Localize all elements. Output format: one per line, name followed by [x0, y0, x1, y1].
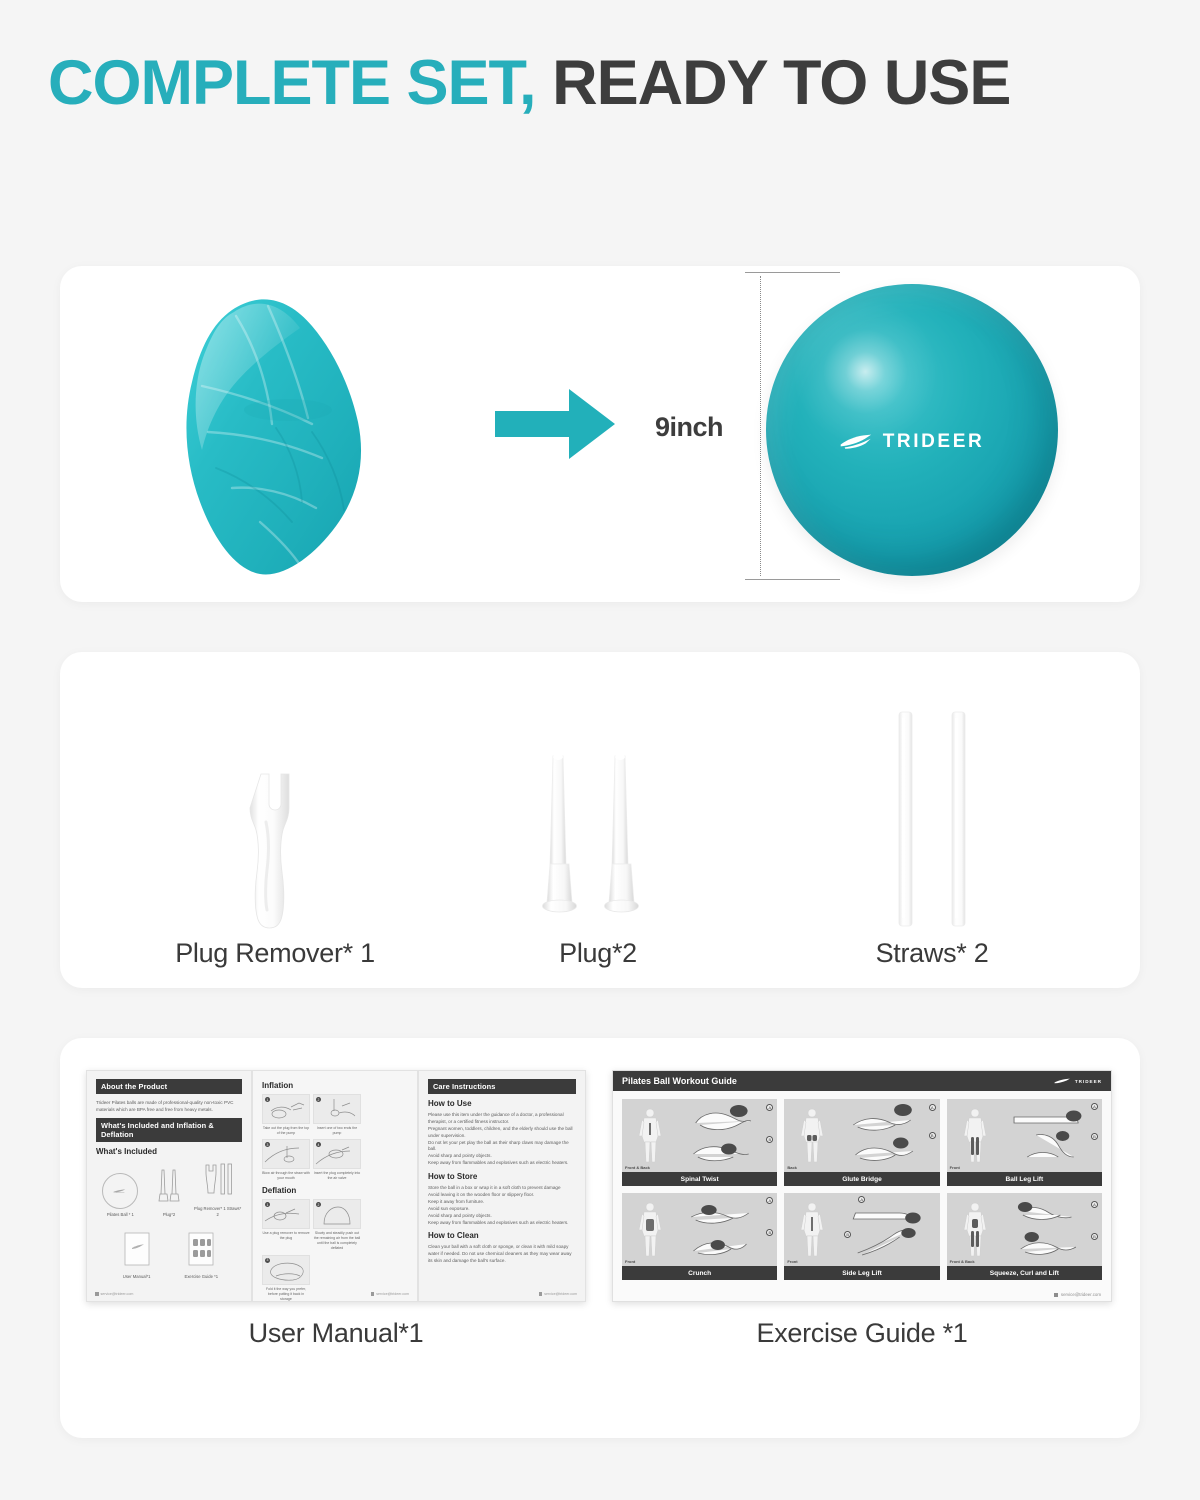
part-straws: Straws* 2 — [772, 690, 1092, 969]
exercise-illustration: Front A B — [947, 1099, 1102, 1172]
included-item: Exercise Guide *1 — [177, 1232, 225, 1280]
inflation-title: Inflation — [262, 1081, 408, 1090]
step-marker: A — [929, 1104, 936, 1111]
dimension-cap-top — [745, 272, 840, 273]
trideer-mark-icon — [840, 434, 874, 449]
exercise-guide-header: Pilates Ball Workout Guide TRIDEER — [613, 1071, 1111, 1091]
page-title-rest: READY TO USE — [536, 48, 1011, 118]
muscle-diagram: Front & Back — [622, 1099, 678, 1172]
inflation-step: 1 Take out the plug from the top of the … — [262, 1094, 310, 1136]
mail-icon — [95, 1292, 99, 1296]
muscle-diagram: Front — [784, 1193, 840, 1266]
included-item-label: Pilates Ball * 1 — [96, 1212, 144, 1218]
muscle-label: Front & Back — [625, 1165, 650, 1170]
exercise-cell: Front A B — [947, 1099, 1102, 1186]
trideer-mark-icon — [1054, 1078, 1072, 1085]
exercise-cell: Front & Back — [622, 1099, 777, 1186]
manual-footer-text: service@trideer.com — [376, 1292, 409, 1296]
exercise-cell: Back A — [784, 1099, 939, 1186]
step-caption: Slowly and steadily push out the remaini… — [313, 1231, 361, 1251]
muscle-label: Front & Back — [950, 1259, 975, 1264]
straws-image — [772, 690, 1092, 930]
deflation-step: 3 Fold it the way you prefer, before put… — [262, 1255, 310, 1302]
exercise-guide-brand-text: TRIDEER — [1075, 1079, 1102, 1084]
pose-figures: A B — [840, 1193, 939, 1266]
manual-footer-text: service@trideer.com — [544, 1292, 577, 1296]
plug-image — [448, 690, 748, 930]
muscle-diagram: Back — [784, 1099, 840, 1172]
plug-remover-image — [110, 690, 440, 930]
step-number: 1 — [265, 1097, 270, 1102]
exercise-guide-title: Pilates Ball Workout Guide — [622, 1076, 737, 1086]
plug-icon — [157, 1168, 181, 1204]
exercise-guide-item: Pilates Ball Workout Guide TRIDEER Front… — [612, 1070, 1112, 1349]
manual-about-text: Trideer Pilates balls are made of profes… — [96, 1099, 242, 1114]
step-illustration: 3 — [262, 1139, 310, 1169]
exercise-cell: Front A — [622, 1193, 777, 1280]
how-to-store-title: How to Store — [428, 1172, 576, 1181]
part-caption: Straws* 2 — [772, 938, 1092, 969]
exercise-name: Glute Bridge — [784, 1172, 939, 1186]
mail-icon — [1054, 1293, 1058, 1297]
manual-included-row-1: Pilates Ball * 1 Plug*2 Plug Remove — [96, 1162, 242, 1219]
step-marker: A — [1091, 1103, 1098, 1110]
step-illustration: 3 — [262, 1255, 310, 1285]
step-marker: B — [1091, 1233, 1098, 1240]
step-illustration: 1 — [262, 1199, 310, 1229]
manual-included-row-2: User Manual*1 Exercis — [96, 1232, 242, 1280]
part-plug-remover: Plug Remover* 1 — [110, 690, 440, 969]
manual-bar-about: About the Product — [96, 1079, 242, 1094]
step-marker: B — [1091, 1133, 1098, 1140]
exercise-guide-icon — [188, 1232, 214, 1266]
exercise-illustration: Front & Back — [622, 1099, 777, 1172]
exercise-name: Spinal Twist — [622, 1172, 777, 1186]
exercise-illustration: Back A — [784, 1099, 939, 1172]
how-to-use-title: How to Use — [428, 1099, 576, 1108]
dimension-cap-bottom — [745, 579, 840, 580]
step-caption: Take out the plug from the top of the pu… — [262, 1126, 310, 1136]
included-item-label: Exercise Guide *1 — [177, 1274, 225, 1280]
manual-bar-care: Care Instructions — [428, 1079, 576, 1094]
page-title: COMPLETE SET, READY TO USE — [48, 48, 1118, 119]
manual-bar-included: What's Included and Inflation & Deflatio… — [96, 1118, 242, 1142]
user-manual-icon — [124, 1232, 150, 1266]
exercise-guide-image: Pilates Ball Workout Guide TRIDEER Front… — [612, 1070, 1112, 1302]
user-manual-image: About the Product Trideer Pilates balls … — [86, 1070, 586, 1302]
muscle-diagram: Front & Back — [947, 1193, 1003, 1266]
included-item: Plug*2 — [145, 1168, 193, 1218]
ball-brand-text: TRIDEER — [883, 431, 985, 453]
deflated-ball-image — [172, 282, 402, 587]
step-caption: Fold it the way you prefer, before putti… — [262, 1287, 310, 1302]
part-caption: Plug*2 — [448, 938, 748, 969]
deflation-step: 1 Use a plug remover to remove the plug — [262, 1199, 310, 1251]
muscle-diagram: Front — [947, 1099, 1003, 1172]
how-to-clean-text: Clean your ball with a soft cloth or spo… — [428, 1244, 576, 1265]
exercise-name: Crunch — [622, 1266, 777, 1280]
how-to-store-text: Store the ball in a box or wrap it in a … — [428, 1185, 576, 1226]
exercise-name: Ball Leg Lift — [947, 1172, 1102, 1186]
muscle-label: Front — [950, 1165, 960, 1170]
user-manual-caption: User Manual*1 — [86, 1318, 586, 1349]
part-plug: Plug*2 — [448, 690, 748, 969]
pose-figures: A B — [840, 1099, 939, 1172]
pose-figures: A B — [678, 1193, 777, 1266]
inflation-step: 4 Insert the plug completely into the ai… — [313, 1139, 361, 1181]
manual-included-title: What's Included — [96, 1147, 242, 1156]
manual-page-about: About the Product Trideer Pilates balls … — [86, 1070, 252, 1302]
how-to-use-text: Please use this item under the guidance … — [428, 1112, 576, 1167]
exercise-cell: Front & Back — [947, 1193, 1102, 1280]
exercise-name: Side Leg Lift — [784, 1266, 939, 1280]
manual-footer-text: service@trideer.com — [101, 1292, 134, 1296]
deflation-title: Deflation — [262, 1186, 408, 1195]
step-number: 2 — [316, 1097, 321, 1102]
manual-page-care: Care Instructions How to Use Please use … — [418, 1070, 586, 1302]
exercise-name: Squeeze, Curl and Lift — [947, 1266, 1102, 1280]
pose-figures: A B — [1003, 1099, 1102, 1172]
included-item: Plug Remover* 1 Straws* 2 — [194, 1162, 242, 1219]
step-number: 3 — [265, 1258, 270, 1263]
included-item-label: User Manual*1 — [113, 1274, 161, 1280]
step-caption: Insert the plug completely into the air … — [313, 1171, 361, 1181]
mail-icon — [371, 1292, 375, 1296]
step-illustration: 1 — [262, 1094, 310, 1124]
page-title-accent: COMPLETE SET, — [48, 48, 536, 118]
exercise-cell: Front A B — [784, 1193, 939, 1280]
step-illustration: 2 — [313, 1094, 361, 1124]
manual-footer: service@trideer.com — [539, 1292, 577, 1296]
part-caption: Plug Remover* 1 — [110, 938, 440, 969]
ball-size-label: 9inch — [655, 412, 723, 443]
plug-remover-straws-icon — [203, 1162, 233, 1198]
inflated-ball-image: TRIDEER — [766, 284, 1058, 576]
step-illustration: 4 — [313, 1139, 361, 1169]
included-item: User Manual*1 — [113, 1232, 161, 1280]
included-item: Pilates Ball * 1 — [96, 1173, 144, 1218]
manual-footer: service@trideer.com — [371, 1292, 409, 1296]
exercise-guide-brand: TRIDEER — [1054, 1078, 1102, 1085]
step-illustration: 2 — [313, 1199, 361, 1229]
manual-footer: service@trideer.com — [95, 1292, 133, 1296]
inflation-steps: 1 Take out the plug from the top of the … — [262, 1094, 408, 1181]
step-marker: A — [1091, 1201, 1098, 1208]
how-to-clean-title: How to Clean — [428, 1231, 576, 1240]
muscle-label: Back — [787, 1165, 797, 1170]
exercise-guide-footer-text: service@trideer.com — [1061, 1292, 1101, 1297]
inflation-step: 2 Insert one of two ends the pump — [313, 1094, 361, 1136]
included-item-label: Plug*2 — [145, 1212, 193, 1218]
exercise-illustration: Front A B — [784, 1193, 939, 1266]
exercise-illustration: Front A — [622, 1193, 777, 1266]
dimension-dotted-line — [760, 276, 761, 576]
muscle-label: Front — [625, 1259, 635, 1264]
exercise-guide-caption: Exercise Guide *1 — [612, 1318, 1112, 1349]
step-caption: Insert one of two ends the pump — [313, 1126, 361, 1136]
inflation-step: 3 Blow air through the straw with your m… — [262, 1139, 310, 1181]
pose-figures: A B — [1003, 1193, 1102, 1266]
deflation-step: 2 Slowly and steadily push out the remai… — [313, 1199, 361, 1251]
manual-page-inflation: Inflation 1 Take out the plug from the t… — [252, 1070, 418, 1302]
muscle-label: Front — [787, 1259, 797, 1264]
deflation-steps: 1 Use a plug remover to remove the plug … — [262, 1199, 408, 1301]
included-item-label: Plug Remover* 1 Straws* 2 — [194, 1206, 242, 1219]
pilates-ball-icon — [102, 1173, 138, 1209]
ball-brand-logo: TRIDEER — [840, 431, 985, 453]
muscle-diagram: Front — [622, 1193, 678, 1266]
exercise-illustration: Front & Back — [947, 1193, 1102, 1266]
user-manual-item: About the Product Trideer Pilates balls … — [86, 1070, 586, 1349]
pose-figures: A B — [678, 1099, 777, 1172]
step-marker: B — [929, 1132, 936, 1139]
exercise-guide-footer: service@trideer.com — [1054, 1292, 1101, 1297]
mail-icon — [539, 1292, 543, 1296]
transform-arrow-icon — [495, 385, 615, 463]
exercise-grid: Front & Back — [613, 1091, 1111, 1280]
step-caption: Use a plug remover to remove the plug — [262, 1231, 310, 1241]
step-caption: Blow air through the straw with your mou… — [262, 1171, 310, 1181]
